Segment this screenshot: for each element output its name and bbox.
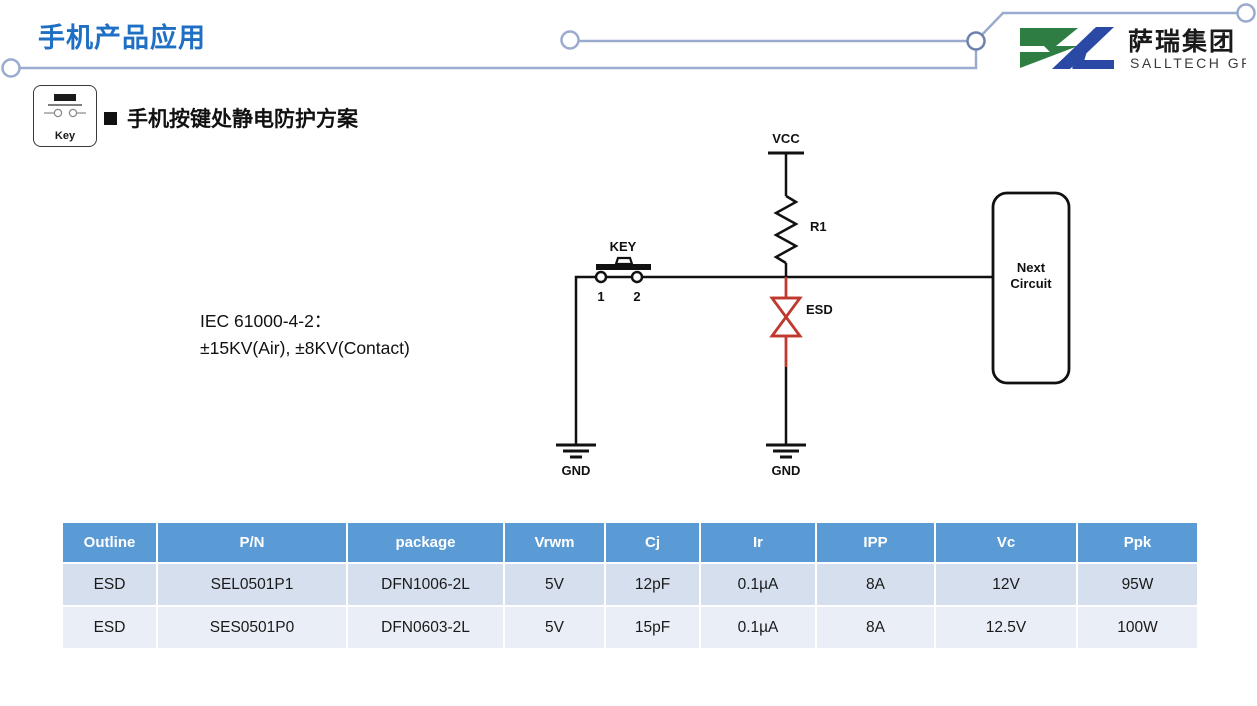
cell-ipp: 8A: [817, 605, 936, 648]
cell-pn: SES0501P0: [158, 605, 348, 648]
table-header-outline: Outline: [63, 523, 158, 562]
deco-circle-left: [3, 60, 20, 77]
cell-outline: ESD: [63, 605, 158, 648]
cell-vc: 12V: [936, 562, 1078, 605]
table-header-ipp: IPP: [817, 523, 936, 562]
deco-circle-right: [1238, 5, 1255, 22]
key-cap: [54, 94, 76, 101]
bullet-square-icon: [104, 112, 117, 125]
cell-ppk: 100W: [1078, 605, 1197, 648]
iec-note-line2: ±15KV(Air), ±8KV(Contact): [200, 335, 410, 362]
table-header-ppk: Ppk: [1078, 523, 1197, 562]
deco-circle-middle: [562, 32, 579, 49]
key-terminal-2: [69, 109, 76, 116]
key-switch-pin1: [596, 272, 606, 282]
esd-protection-schematic: VCC R1 KEY 1 2 GND ESD GND Next Circuit: [520, 118, 1120, 488]
cell-vc: 12.5V: [936, 605, 1078, 648]
push-button-switch-icon: [34, 86, 96, 132]
schematic-label-pin1: 1: [597, 289, 604, 304]
resistor-r1-symbol: [776, 196, 796, 263]
table-row: ESD SES0501P0 DFN0603-2L 5V 15pF 0.1µA 8…: [63, 605, 1197, 648]
key-switch-cap: [616, 258, 632, 264]
table-header-pn: P/N: [158, 523, 348, 562]
table-header-ir: Ir: [701, 523, 817, 562]
cell-cj: 15pF: [606, 605, 701, 648]
table-header-package: package: [348, 523, 505, 562]
schematic-label-key: KEY: [610, 239, 637, 254]
table-header-vrwm: Vrwm: [505, 523, 606, 562]
table-header-row: Outline P/N package Vrwm Cj Ir IPP Vc Pp…: [63, 523, 1197, 562]
schematic-label-r1: R1: [810, 219, 827, 234]
cell-vrwm: 5V: [505, 605, 606, 648]
logo-en-name: SALLTECH GROUP: [1130, 55, 1246, 71]
cell-pn: SEL0501P1: [158, 562, 348, 605]
logo-cn-name: 萨瑞集团: [1128, 27, 1236, 56]
cell-package: DFN0603-2L: [348, 605, 505, 648]
salltech-group-logo: 萨瑞集团 SALLTECH GROUP: [1014, 22, 1246, 74]
cell-package: DFN1006-2L: [348, 562, 505, 605]
key-switch-pin2: [632, 272, 642, 282]
cell-ipp: 8A: [817, 562, 936, 605]
cell-outline: ESD: [63, 562, 158, 605]
table-header-vc: Vc: [936, 523, 1078, 562]
section-heading-text: 手机按键处静电防护方案: [127, 103, 358, 133]
iec-standard-note: IEC 61000-4-2： ±15KV(Air), ±8KV(Contact): [200, 308, 410, 362]
key-to-gnd-wire: [576, 277, 596, 445]
esd-spec-table: Outline P/N package Vrwm Cj Ir IPP Vc Pp…: [63, 523, 1197, 648]
cell-vrwm: 5V: [505, 562, 606, 605]
section-heading: 手机按键处静电防护方案: [104, 103, 358, 133]
table-row: ESD SEL0501P1 DFN1006-2L 5V 12pF 0.1µA 8…: [63, 562, 1197, 605]
cell-cj: 12pF: [606, 562, 701, 605]
cell-ir: 0.1µA: [701, 605, 817, 648]
cell-ppk: 95W: [1078, 562, 1197, 605]
schematic-label-gnd-left: GND: [562, 463, 591, 478]
schematic-label-vcc: VCC: [772, 131, 800, 146]
schematic-label-gnd-right: GND: [772, 463, 801, 478]
key-terminal-1: [54, 109, 61, 116]
esd-diode-triangle-upper: [772, 298, 800, 317]
next-circuit-label-line2: Circuit: [1010, 276, 1052, 291]
schematic-label-pin2: 2: [633, 289, 640, 304]
next-circuit-label-line1: Next: [1017, 260, 1046, 275]
table-header-cj: Cj: [606, 523, 701, 562]
page-title: 手机产品应用: [38, 16, 206, 55]
key-badge-label: Key: [34, 130, 96, 142]
iec-note-line1: IEC 61000-4-2：: [200, 308, 410, 335]
esd-diode-triangle-lower: [772, 317, 800, 336]
cell-ir: 0.1µA: [701, 562, 817, 605]
key-icon-badge: Key: [33, 85, 97, 147]
deco-circle-node: [968, 33, 985, 50]
schematic-label-esd: ESD: [806, 302, 833, 317]
